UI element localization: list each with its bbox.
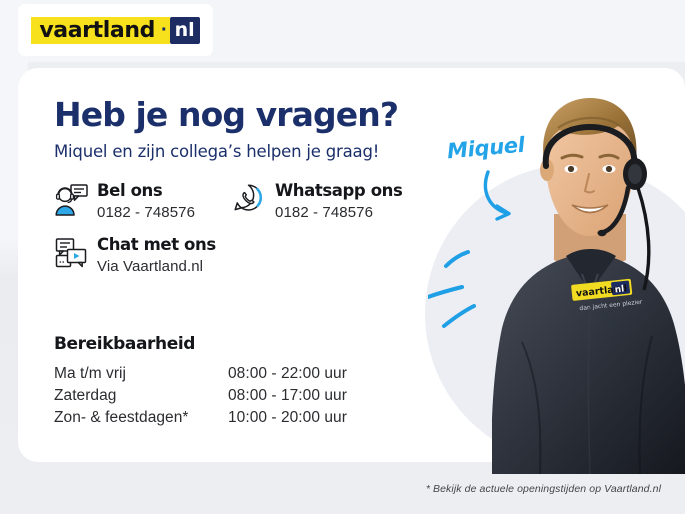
- headset-person-icon: [54, 182, 88, 220]
- opening-hours-row: Ma t/m vrij 08:00 - 22:00 uur: [54, 365, 347, 383]
- whatsapp-icon: [232, 182, 266, 220]
- opening-hours-row: Zaterdag 08:00 - 17:00 uur: [54, 387, 347, 405]
- opening-hours-time: 10:00 - 20:00 uur: [228, 409, 347, 427]
- sparkle-dashes-icon: [428, 240, 538, 340]
- contact-methods: Bel ons 0182 - 748576 Whatsapp ons: [54, 181, 454, 275]
- contact-chat-title: Chat met ons: [97, 236, 216, 255]
- contact-whatsapp-text: Whatsapp ons 0182 - 748576: [275, 181, 402, 221]
- contact-row-secondary: Chat met ons Via Vaartland.nl: [54, 235, 454, 275]
- contact-row-primary: Bel ons 0182 - 748576 Whatsapp ons: [54, 181, 454, 221]
- opening-hours-day: Zon- & feestdagen*: [54, 409, 228, 427]
- opening-hours-title: Bereikbaarheid: [54, 334, 347, 354]
- contact-whatsapp-title: Whatsapp ons: [275, 182, 402, 201]
- contact-call-title: Bel ons: [97, 182, 195, 201]
- brand-logo[interactable]: vaartland · nl: [18, 4, 213, 56]
- svg-text:nl: nl: [614, 284, 624, 295]
- footnote-text: * Bekijk de actuele openingstijden op Va…: [426, 483, 661, 495]
- opening-hours: Bereikbaarheid Ma t/m vrij 08:00 - 22:00…: [54, 334, 347, 431]
- page-subtitle: Miquel en zijn collega’s helpen je graag…: [54, 142, 454, 161]
- hero-copy: Heb je nog vragen? Miquel en zijn colleg…: [54, 98, 454, 161]
- page-title: Heb je nog vragen?: [54, 98, 454, 133]
- curved-arrow-icon: [480, 168, 550, 226]
- opening-hours-time: 08:00 - 22:00 uur: [228, 365, 347, 383]
- brand-logo-dot: ·: [161, 17, 170, 44]
- opening-hours-day: Zaterdag: [54, 387, 228, 405]
- contact-chat-text: Chat met ons Via Vaartland.nl: [97, 235, 216, 275]
- contact-call-value[interactable]: 0182 - 748576: [97, 204, 195, 221]
- promo-banner: vaartland · nl Heb je nog vragen? Miquel…: [0, 0, 685, 514]
- opening-hours-row: Zon- & feestdagen* 10:00 - 20:00 uur: [54, 409, 347, 427]
- brand-logo-inner: vaartland · nl: [31, 17, 199, 44]
- contact-item-chat[interactable]: Chat met ons Via Vaartland.nl: [54, 235, 232, 275]
- contact-chat-value[interactable]: Via Vaartland.nl: [97, 258, 216, 275]
- brand-logo-word: vaartland: [31, 17, 161, 44]
- contact-whatsapp-value[interactable]: 0182 - 748576: [275, 204, 402, 221]
- contact-item-call[interactable]: Bel ons 0182 - 748576: [54, 181, 232, 221]
- opening-hours-day: Ma t/m vrij: [54, 365, 228, 383]
- contact-call-text: Bel ons 0182 - 748576: [97, 181, 195, 221]
- brand-logo-tld: nl: [170, 17, 200, 44]
- chat-bubbles-icon: [54, 236, 88, 274]
- opening-hours-time: 08:00 - 17:00 uur: [228, 387, 347, 405]
- contact-item-whatsapp[interactable]: Whatsapp ons 0182 - 748576: [232, 181, 442, 221]
